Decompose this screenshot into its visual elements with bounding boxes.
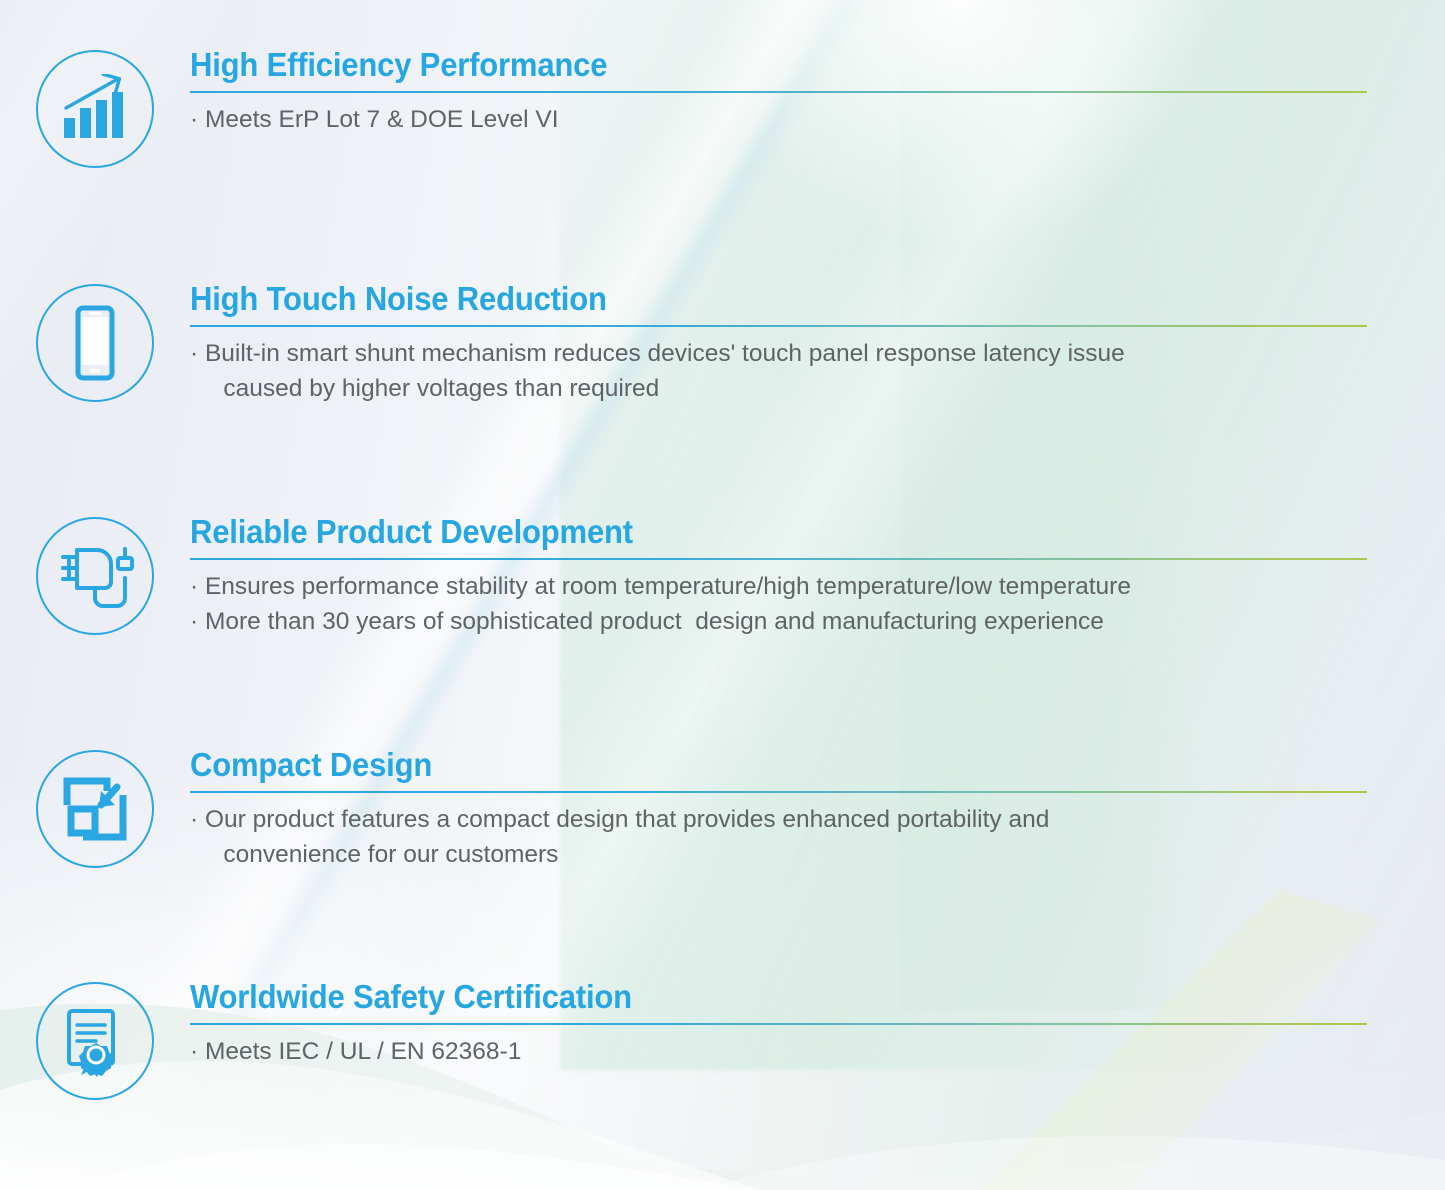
feature-divider — [190, 1023, 1367, 1026]
feature-bullets: · Our product features a compact design … — [190, 802, 1367, 872]
feature-bullet: · Ensures performance stability at room … — [190, 569, 1367, 604]
feature-title: High Efficiency Performance — [190, 48, 1296, 83]
feature-body: High Touch Noise Reduction · Built-in sm… — [190, 282, 1445, 406]
feature-item: Reliable Product Development · Ensures p… — [0, 515, 1445, 639]
feature-title: High Touch Noise Reduction — [190, 282, 1296, 317]
feature-icon-wrap — [0, 748, 190, 868]
feature-bullets: · Built-in smart shunt mechanism reduces… — [190, 336, 1367, 406]
feature-divider — [190, 91, 1367, 94]
feature-icon-wrap — [0, 980, 190, 1100]
feature-item: Worldwide Safety Certification · Meets I… — [0, 980, 1445, 1100]
feature-bullets: · Meets ErP Lot 7 & DOE Level VI — [190, 102, 1367, 137]
feature-highlights-page: High Efficiency Performance · Meets ErP … — [0, 0, 1445, 1190]
bar-chart-growth-icon — [36, 50, 154, 168]
feature-bullets: · Ensures performance stability at room … — [190, 569, 1367, 639]
power-adapter-icon — [36, 517, 154, 635]
feature-title: Reliable Product Development — [190, 515, 1296, 550]
feature-body: Reliable Product Development · Ensures p… — [190, 515, 1445, 639]
feature-bullet: · Meets ErP Lot 7 & DOE Level VI — [190, 102, 1367, 137]
feature-body: Worldwide Safety Certification · Meets I… — [190, 980, 1445, 1069]
feature-title: Compact Design — [190, 748, 1296, 783]
feature-icon-wrap — [0, 515, 190, 635]
feature-bullet: · Built-in smart shunt mechanism reduces… — [190, 336, 1367, 406]
feature-divider — [190, 558, 1367, 561]
feature-bullet: · Our product features a compact design … — [190, 802, 1367, 872]
feature-icon-wrap — [0, 48, 190, 168]
feature-item: High Touch Noise Reduction · Built-in sm… — [0, 282, 1445, 406]
compact-resize-icon — [36, 750, 154, 868]
feature-body: High Efficiency Performance · Meets ErP … — [190, 48, 1445, 137]
feature-title: Worldwide Safety Certification — [190, 980, 1296, 1015]
feature-divider — [190, 325, 1367, 328]
feature-bullet: · Meets IEC / UL / EN 62368-1 — [190, 1034, 1367, 1069]
feature-icon-wrap — [0, 282, 190, 402]
certificate-seal-icon — [36, 982, 154, 1100]
smartphone-icon — [36, 284, 154, 402]
feature-item: Compact Design · Our product features a … — [0, 748, 1445, 872]
feature-divider — [190, 791, 1367, 794]
feature-body: Compact Design · Our product features a … — [190, 748, 1445, 872]
feature-list: High Efficiency Performance · Meets ErP … — [0, 0, 1445, 1190]
feature-item: High Efficiency Performance · Meets ErP … — [0, 48, 1445, 168]
feature-bullets: · Meets IEC / UL / EN 62368-1 — [190, 1034, 1367, 1069]
feature-bullet: · More than 30 years of sophisticated pr… — [190, 604, 1367, 639]
